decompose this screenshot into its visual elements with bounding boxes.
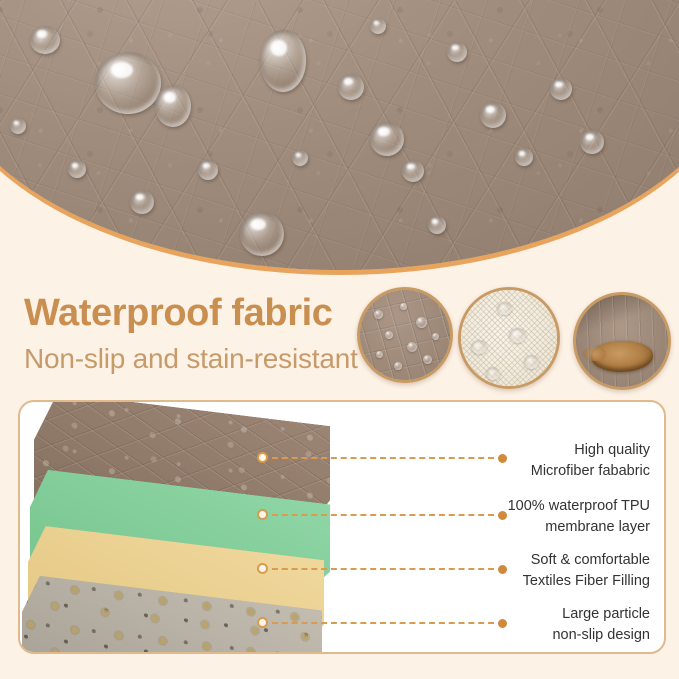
connector-line-nonslip	[257, 617, 507, 629]
connector-ring-icon	[257, 452, 268, 463]
water-bead	[497, 302, 512, 315]
detail-circle-backing-beading	[458, 287, 560, 389]
layer-label-line: Textiles Fiber Filling	[523, 571, 650, 592]
connector-dash	[272, 514, 494, 518]
layer-label-microfiber: High quality Microfiber fababric	[531, 440, 650, 481]
water-droplet	[428, 216, 446, 234]
layer-label-line: 100% waterproof TPU	[508, 496, 650, 517]
connector-ring-icon	[257, 563, 268, 574]
water-droplet	[292, 150, 308, 166]
water-droplet	[416, 317, 427, 328]
connector-line-filling	[257, 563, 507, 575]
water-droplet	[423, 355, 432, 364]
page-subtitle: Non-slip and stain-resistant	[24, 343, 358, 375]
water-droplet	[30, 26, 60, 54]
water-droplet	[550, 78, 572, 100]
connector-end-dot-icon	[498, 454, 507, 463]
layer-label-nonslip: Large particle non-slip design	[552, 604, 650, 645]
water-bead	[471, 340, 487, 354]
layer-label-filling: Soft & comfortable Textiles Fiber Fillin…	[523, 550, 650, 591]
connector-end-dot-icon	[498, 565, 507, 574]
detail-circle-water-beading	[357, 287, 453, 383]
connector-line-microfiber	[257, 452, 507, 464]
water-droplet	[480, 102, 506, 128]
water-droplet	[338, 74, 364, 100]
layer-label-line: membrane layer	[508, 517, 650, 538]
water-droplet	[407, 342, 417, 352]
layer-label-line: Soft & comfortable	[523, 550, 650, 571]
page-title: Waterproof fabric	[24, 292, 332, 335]
connector-end-dot-icon	[498, 619, 507, 628]
water-droplet	[580, 130, 604, 154]
layer-label-line: Large particle	[552, 604, 650, 625]
water-droplet	[260, 30, 306, 92]
hero-fabric-photo	[0, 0, 679, 270]
fabric-grain-overlay	[0, 0, 679, 270]
connector-ring-icon	[257, 509, 268, 520]
detail-circle-spill-resistance	[573, 292, 671, 390]
water-droplet	[95, 52, 161, 114]
water-droplet	[198, 160, 218, 180]
layer-structure-card: High quality Microfiber fababric 100% wa…	[18, 400, 666, 654]
water-droplet	[400, 303, 407, 310]
connector-end-dot-icon	[498, 511, 507, 520]
water-droplet	[240, 212, 284, 256]
connector-dash	[272, 457, 494, 461]
layer-label-line: High quality	[531, 440, 650, 461]
water-droplet	[130, 190, 154, 214]
layer-label-line: non-slip design	[552, 625, 650, 646]
water-droplet	[447, 42, 467, 62]
water-droplet	[515, 148, 533, 166]
water-bead	[486, 367, 500, 380]
connector-line-tpu	[257, 509, 507, 521]
infographic-page: Waterproof fabric Non-slip and stain-res…	[0, 0, 679, 679]
connector-ring-icon	[257, 617, 268, 628]
water-droplet	[370, 18, 386, 34]
layer-label-tpu: 100% waterproof TPU membrane layer	[508, 496, 650, 537]
water-droplet	[370, 122, 404, 156]
water-droplet	[68, 160, 86, 178]
connector-dash	[272, 622, 494, 626]
water-droplet	[402, 160, 424, 182]
connector-dash	[272, 568, 494, 572]
water-droplet	[155, 85, 191, 127]
layer-label-line: Microfiber fababric	[531, 461, 650, 482]
water-droplet	[10, 118, 26, 134]
